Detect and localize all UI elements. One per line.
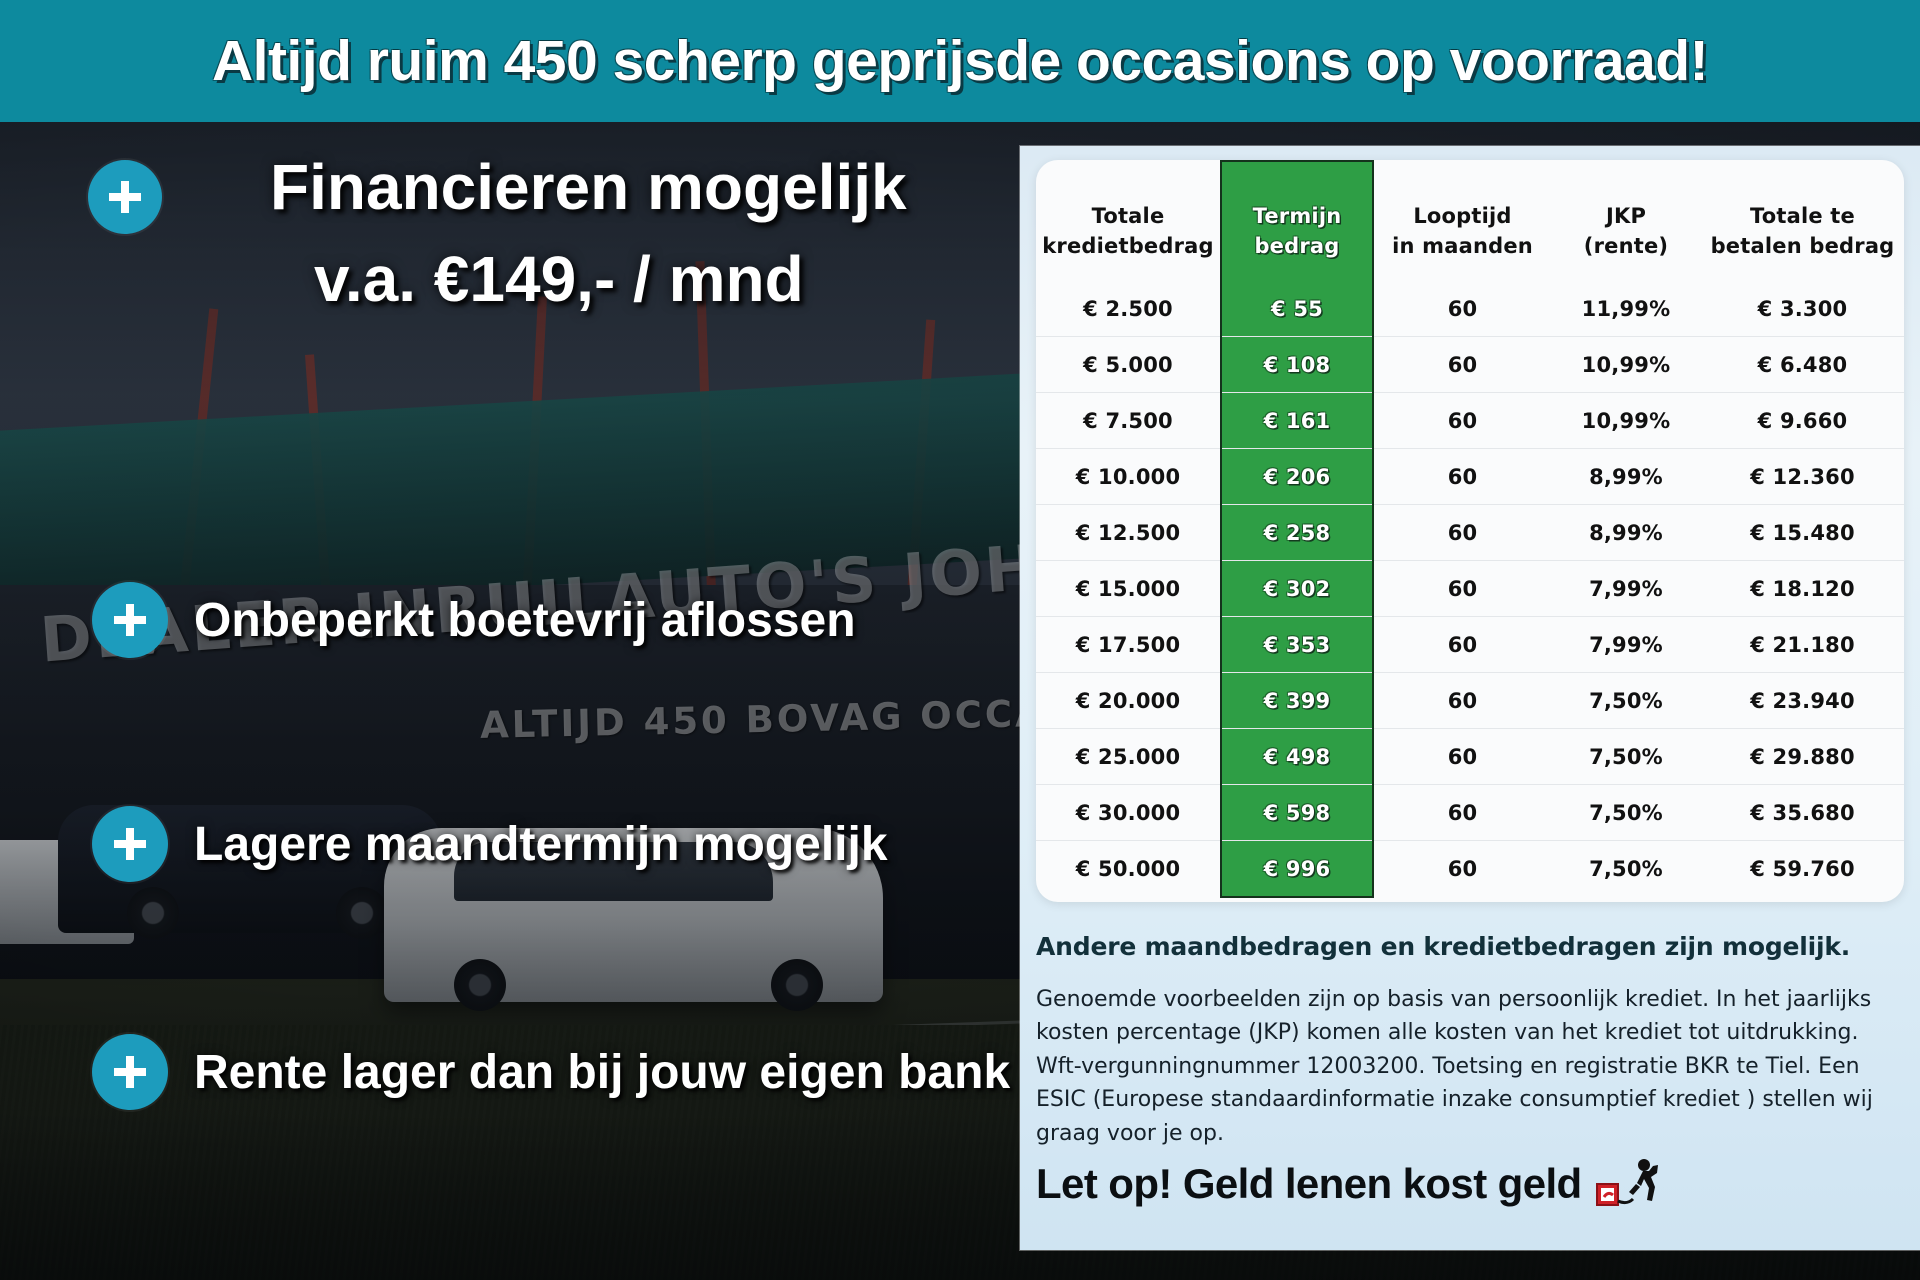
feature-label: Rente lager dan bij jouw eigen bank: [194, 1045, 1010, 1100]
disclaimer-body: Genoemde voorbeelden zijn op basis van p…: [1036, 983, 1904, 1150]
table-cell: € 50.000: [1036, 841, 1221, 898]
table-cell: 7,50%: [1551, 841, 1701, 898]
table-cell: € 258: [1221, 505, 1373, 561]
table-cell: € 161: [1221, 393, 1373, 449]
table-cell: 60: [1373, 841, 1551, 898]
table-cell: 10,99%: [1551, 337, 1701, 393]
table-cell: 60: [1373, 281, 1551, 337]
table-cell: 11,99%: [1551, 281, 1701, 337]
financing-info-panel: TotalekredietbedragTermijnbedragLooptijd…: [1020, 146, 1920, 1250]
table-cell: 60: [1373, 393, 1551, 449]
table-column-header: Totale tebetalen bedrag: [1701, 161, 1904, 281]
table-cell: € 3.300: [1701, 281, 1904, 337]
table-cell: 60: [1373, 673, 1551, 729]
feature-item-1: Lagere maandtermijn mogelijk: [92, 806, 888, 882]
table-cell: € 353: [1221, 617, 1373, 673]
table-cell: 60: [1373, 505, 1551, 561]
table-cell: 60: [1373, 617, 1551, 673]
table-cell: € 7.500: [1036, 393, 1221, 449]
table-row: € 50.000€ 996607,50%€ 59.760: [1036, 841, 1904, 898]
rates-table-card: TotalekredietbedragTermijnbedragLooptijd…: [1036, 160, 1904, 902]
table-cell: € 15.000: [1036, 561, 1221, 617]
advertisement-banner: Altijd ruim 450 scherp geprijsde occasio…: [0, 0, 1920, 1280]
table-column-header: Termijnbedrag: [1221, 161, 1373, 281]
legal-warning: Let op! Geld lenen kost geld: [1036, 1158, 1904, 1210]
table-cell: € 25.000: [1036, 729, 1221, 785]
table-cell: € 302: [1221, 561, 1373, 617]
table-cell: € 30.000: [1036, 785, 1221, 841]
table-row: € 7.500€ 1616010,99%€ 9.660: [1036, 393, 1904, 449]
legal-warning-text: Let op! Geld lenen kost geld: [1036, 1160, 1582, 1208]
feature-label: Onbeperkt boetevrij aflossen: [194, 593, 856, 648]
table-cell: € 10.000: [1036, 449, 1221, 505]
table-cell: € 5.000: [1036, 337, 1221, 393]
table-cell: 7,99%: [1551, 617, 1701, 673]
table-cell: € 55: [1221, 281, 1373, 337]
hero-title: Financieren mogelijk: [270, 150, 907, 224]
feature-label: Lagere maandtermijn mogelijk: [194, 817, 888, 872]
table-cell: 60: [1373, 561, 1551, 617]
table-column-header: JKP(rente): [1551, 161, 1701, 281]
plus-icon: [88, 160, 162, 234]
table-cell: € 206: [1221, 449, 1373, 505]
table-row: € 17.500€ 353607,99%€ 21.180: [1036, 617, 1904, 673]
rates-table: TotalekredietbedragTermijnbedragLooptijd…: [1036, 160, 1904, 898]
plus-icon: [92, 582, 168, 658]
table-row: € 12.500€ 258608,99%€ 15.480: [1036, 505, 1904, 561]
table-cell: € 21.180: [1701, 617, 1904, 673]
table-column-header: Looptijdin maanden: [1373, 161, 1551, 281]
table-cell: € 15.480: [1701, 505, 1904, 561]
feature-item-2: Rente lager dan bij jouw eigen bank: [92, 1034, 1010, 1110]
table-cell: € 2.500: [1036, 281, 1221, 337]
table-cell: 10,99%: [1551, 393, 1701, 449]
table-cell: 7,50%: [1551, 785, 1701, 841]
top-banner-text: Altijd ruim 450 scherp geprijsde occasio…: [212, 28, 1708, 94]
hero-subtitle: v.a. €149,- / mnd: [314, 242, 804, 316]
table-cell: 8,99%: [1551, 449, 1701, 505]
table-cell: 7,99%: [1551, 561, 1701, 617]
disclaimer-block: Andere maandbedragen en kredietbedragen …: [1036, 932, 1904, 1150]
table-header-row: TotalekredietbedragTermijnbedragLooptijd…: [1036, 161, 1904, 281]
table-cell: € 598: [1221, 785, 1373, 841]
ball-and-chain-icon: [1596, 1158, 1660, 1210]
table-cell: 7,50%: [1551, 673, 1701, 729]
table-row: € 5.000€ 1086010,99%€ 6.480: [1036, 337, 1904, 393]
feature-item-0: Onbeperkt boetevrij aflossen: [92, 582, 856, 658]
table-cell: € 29.880: [1701, 729, 1904, 785]
table-cell: € 17.500: [1036, 617, 1221, 673]
table-row: € 25.000€ 498607,50%€ 29.880: [1036, 729, 1904, 785]
plus-icon: [92, 806, 168, 882]
table-header: TotalekredietbedragTermijnbedragLooptijd…: [1036, 161, 1904, 281]
table-cell: € 6.480: [1701, 337, 1904, 393]
table-row: € 2.500€ 556011,99%€ 3.300: [1036, 281, 1904, 337]
feature-list: Financieren mogelijk v.a. €149,- / mnd O…: [0, 122, 1030, 1280]
table-row: € 10.000€ 206608,99%€ 12.360: [1036, 449, 1904, 505]
table-cell: € 996: [1221, 841, 1373, 898]
table-cell: € 23.940: [1701, 673, 1904, 729]
table-column-header: Totalekredietbedrag: [1036, 161, 1221, 281]
table-body: € 2.500€ 556011,99%€ 3.300€ 5.000€ 10860…: [1036, 281, 1904, 897]
table-cell: 60: [1373, 729, 1551, 785]
table-cell: € 108: [1221, 337, 1373, 393]
table-cell: € 399: [1221, 673, 1373, 729]
table-row: € 15.000€ 302607,99%€ 18.120: [1036, 561, 1904, 617]
table-cell: 60: [1373, 337, 1551, 393]
table-row: € 20.000€ 399607,50%€ 23.940: [1036, 673, 1904, 729]
table-cell: 60: [1373, 785, 1551, 841]
table-cell: € 35.680: [1701, 785, 1904, 841]
table-cell: € 498: [1221, 729, 1373, 785]
table-cell: 7,50%: [1551, 729, 1701, 785]
table-cell: 8,99%: [1551, 505, 1701, 561]
table-cell: 60: [1373, 449, 1551, 505]
table-cell: € 20.000: [1036, 673, 1221, 729]
table-cell: € 18.120: [1701, 561, 1904, 617]
table-cell: € 59.760: [1701, 841, 1904, 898]
disclaimer-heading: Andere maandbedragen en kredietbedragen …: [1036, 932, 1904, 961]
table-cell: € 12.360: [1701, 449, 1904, 505]
table-row: € 30.000€ 598607,50%€ 35.680: [1036, 785, 1904, 841]
table-cell: € 9.660: [1701, 393, 1904, 449]
table-cell: € 12.500: [1036, 505, 1221, 561]
plus-icon: [92, 1034, 168, 1110]
feature-item-financing: Financieren mogelijk v.a. €149,- / mnd: [88, 160, 162, 234]
top-banner: Altijd ruim 450 scherp geprijsde occasio…: [0, 0, 1920, 122]
